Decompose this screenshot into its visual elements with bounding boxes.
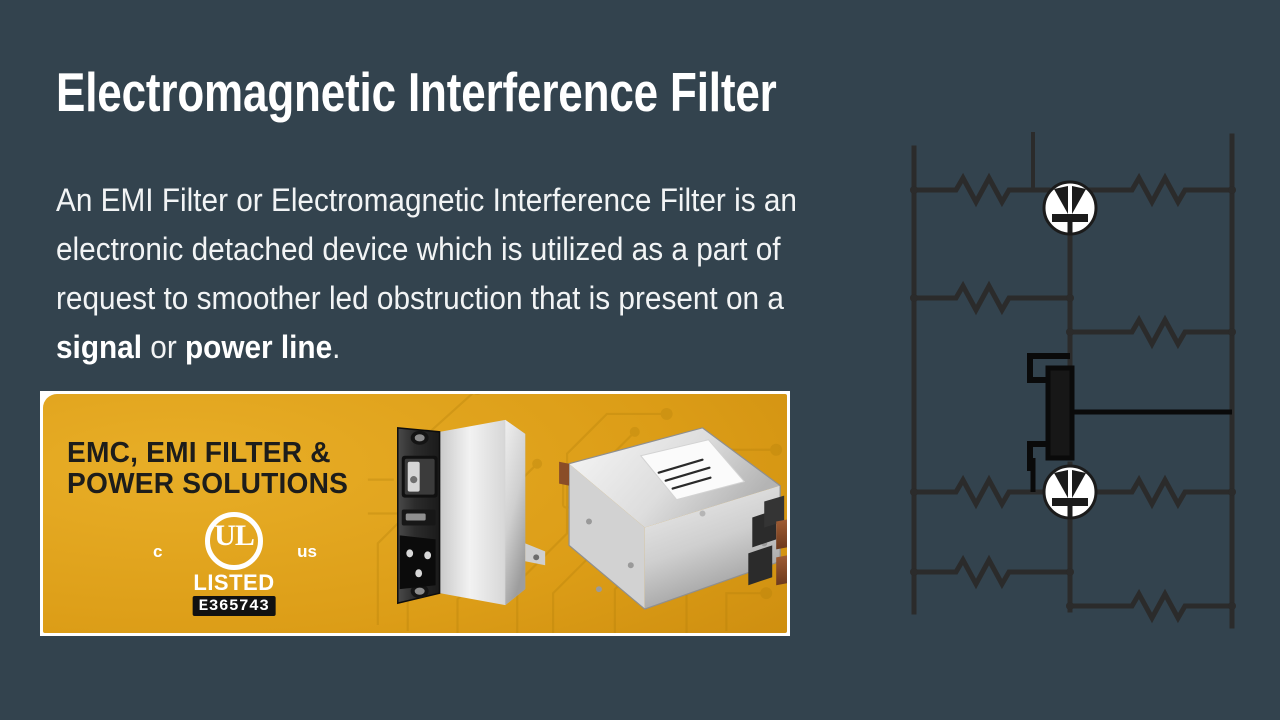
- banner-background: EMC, EMI FILTER & POWER SOLUTIONS c UL u…: [43, 394, 787, 633]
- ul-listed-label: LISTED: [149, 570, 319, 596]
- transistor-upper: [1044, 182, 1096, 234]
- product-banner-image: EMC, EMI FILTER & POWER SOLUTIONS c UL u…: [40, 391, 790, 636]
- ul-file-number: E365743: [193, 596, 276, 616]
- resistor-top-right: [1090, 178, 1232, 202]
- page-title: Electromagnetic Interference Filter: [56, 60, 712, 124]
- photo-chassis-emi-filter: [559, 428, 787, 609]
- body-bold-signal: signal: [56, 329, 142, 365]
- banner-headline-line1: EMC, EMI FILTER &: [67, 437, 331, 469]
- body-text-segment-1: An EMI Filter or Electromagnetic Interfe…: [56, 182, 797, 316]
- common-mode-choke: [1030, 356, 1232, 468]
- resistor-bottom-right: [1070, 594, 1232, 618]
- ul-letters: UL: [149, 521, 319, 551]
- ul-mark-row: c UL us: [149, 512, 319, 572]
- photo-iec-inlet-filter: [398, 420, 545, 605]
- circuit-diagram: [880, 120, 1270, 660]
- product-photographs: [373, 394, 787, 633]
- ul-certification-mark: c UL us LISTED E365743: [149, 512, 319, 618]
- resistor-top-left: [914, 178, 1048, 202]
- body-text-segment-2: or: [142, 329, 185, 365]
- resistor-lower-mid-right: [1090, 480, 1232, 504]
- body-text-segment-3: .: [332, 329, 340, 365]
- transistor-lower: [1044, 466, 1096, 518]
- resistor-bottom-left: [914, 560, 1070, 584]
- resistor-lower-mid-left: [914, 480, 1048, 504]
- ul-suffix-us: us: [297, 542, 317, 562]
- resistor-upper-mid-left: [914, 286, 1070, 310]
- body-bold-power-line: power line: [185, 329, 332, 365]
- resistor-upper-mid-right: [1070, 320, 1232, 344]
- slide-canvas: Electromagnetic Interference Filter An E…: [0, 0, 1280, 720]
- body-paragraph: An EMI Filter or Electromagnetic Interfe…: [56, 176, 874, 372]
- banner-headline-line2: POWER SOLUTIONS: [67, 469, 387, 500]
- banner-headline: EMC, EMI FILTER & POWER SOLUTIONS: [67, 438, 387, 500]
